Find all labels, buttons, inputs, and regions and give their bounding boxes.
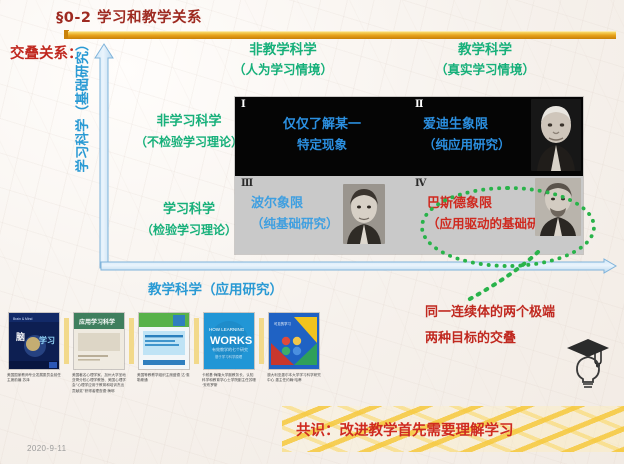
quadrant-line1: 仅仅了解某一 <box>235 115 409 135</box>
book-caption: 美国著名心理学家、加州大学圣地亚哥分校心理学教授、美国心理学会“心理学应用于教育… <box>72 373 126 394</box>
column-header-instruction: 教学科学 （真实学习情境） <box>390 40 580 80</box>
quadrant-roman-numeral: Ⅳ <box>415 178 426 189</box>
column-header-subtitle: （人为学习情境） <box>188 60 378 80</box>
consensus-banner: 共识：改进教学首先需要理解学习 <box>282 406 624 452</box>
quadrant-4-cell[interactable]: Ⅳ 巴斯德象限 （应用驱动的基础研究） <box>409 176 583 255</box>
pasteur-portrait <box>535 178 581 236</box>
vertical-axis-label: 学习科学（基础研究） <box>71 20 91 190</box>
vertical-axis-arrow <box>94 42 114 270</box>
svg-text:Brain & Mind: Brain & Mind <box>13 317 33 321</box>
column-header-subtitle: （真实学习情境） <box>390 60 580 80</box>
book-caption: 美国等教教学组织主席盛德 达·惠勒斯通 <box>137 373 191 383</box>
book-caption: 美国国家教师专业发展委员会前任主席前编 苏泽 <box>7 373 61 383</box>
svg-text:有效教学的七个研究: 有效教学的七个研究 <box>212 346 248 352</box>
title-gold-bar <box>68 31 616 39</box>
quadrant-roman-numeral: Ⅱ <box>415 99 423 110</box>
book-cover <box>138 312 190 370</box>
svg-text:脑: 脑 <box>15 331 25 343</box>
book-cover: Brain & Mind 脑 学习 <box>8 312 60 370</box>
quadrant-3-cell[interactable]: Ⅲ 波尔象限 （纯基础研究） <box>235 176 409 255</box>
annotation-line1: 同一连续体的两个极端 <box>425 300 621 326</box>
quadrant-matrix: Ⅰ 仅仅了解某一 特定现象 Ⅱ 爱迪生象限 （纯应用研究） <box>235 97 583 254</box>
svg-text:HOW LEARNING: HOW LEARNING <box>209 327 245 332</box>
book-caption: 澳大利亚墨尔本大学学习科学研究中心 墨主任约翰·哈蒂 <box>267 373 321 383</box>
quadrant-1-cell[interactable]: Ⅰ 仅仅了解某一 特定现象 <box>235 97 409 176</box>
svg-text:可见的学习: 可见的学习 <box>274 321 291 326</box>
book-item[interactable]: 美国等教教学组织主席盛德 达·惠勒斯通 <box>134 312 194 383</box>
book-item[interactable]: 可见的学习 澳大利亚墨尔本大学学习科学研究中心 墨主任约翰·哈蒂 <box>264 312 324 383</box>
edison-portrait <box>531 99 581 171</box>
column-header-non-instruction: 非教学科学 （人为学习情境） <box>188 40 378 80</box>
horizontal-axis-label: 教学科学（应用研究） <box>148 278 283 298</box>
book-cover: HOW LEARNING WORKS 有效教学的七个研究 基于学习科学原理 <box>203 312 255 370</box>
book-list: Brain & Mind 脑 学习 美国国家教师专业发展委员会前任主席前编 苏泽… <box>4 312 324 432</box>
date-stamp: 2020-9-11 <box>27 444 66 453</box>
svg-text:学习: 学习 <box>39 335 55 345</box>
slide-canvas: §0-2 学习和教学关系 交叠关系： 学习科学（基础研究） 教学科学（应用研究） <box>0 0 624 464</box>
book-cover: 可见的学习 <box>268 312 320 370</box>
graduation-lightbulb-icon <box>565 337 611 389</box>
svg-text:WORKS: WORKS <box>210 335 252 347</box>
book-caption: 卡耐基·梅隆大学副教务长、认知科学和教育学心士学院副主任苏珊·安布罗斯 <box>202 373 256 389</box>
quadrant-2-cell[interactable]: Ⅱ 爱迪生象限 （纯应用研究） <box>409 97 583 176</box>
book-item[interactable]: Brain & Mind 脑 学习 美国国家教师专业发展委员会前任主席前编 苏泽 <box>4 312 64 383</box>
bohr-portrait <box>343 184 385 244</box>
book-cover: 应用学习科学 <box>73 312 125 370</box>
quadrant-roman-numeral: Ⅰ <box>241 99 246 110</box>
column-header-title: 非教学科学 <box>188 40 378 60</box>
quadrant-line2: 特定现象 <box>235 135 409 155</box>
quadrant-line2: （纯基础研究） <box>251 214 409 234</box>
quadrant-line1: 波尔象限 <box>251 194 409 214</box>
quadrant-roman-numeral: Ⅲ <box>241 178 253 189</box>
book-item[interactable]: 应用学习科学 美国著名心理学家、加州大学圣地亚哥分校心理学教授、美国心理学会“心… <box>69 312 129 394</box>
svg-text:基于学习科学原理: 基于学习科学原理 <box>215 354 243 359</box>
column-header-title: 教学科学 <box>390 40 580 60</box>
book-item[interactable]: HOW LEARNING WORKS 有效教学的七个研究 基于学习科学原理 卡耐… <box>199 312 259 389</box>
consensus-banner-text: 共识：改进教学首先需要理解学习 <box>282 419 514 440</box>
highlight-connector-line <box>452 250 544 306</box>
svg-text:应用学习科学: 应用学习科学 <box>79 318 115 326</box>
